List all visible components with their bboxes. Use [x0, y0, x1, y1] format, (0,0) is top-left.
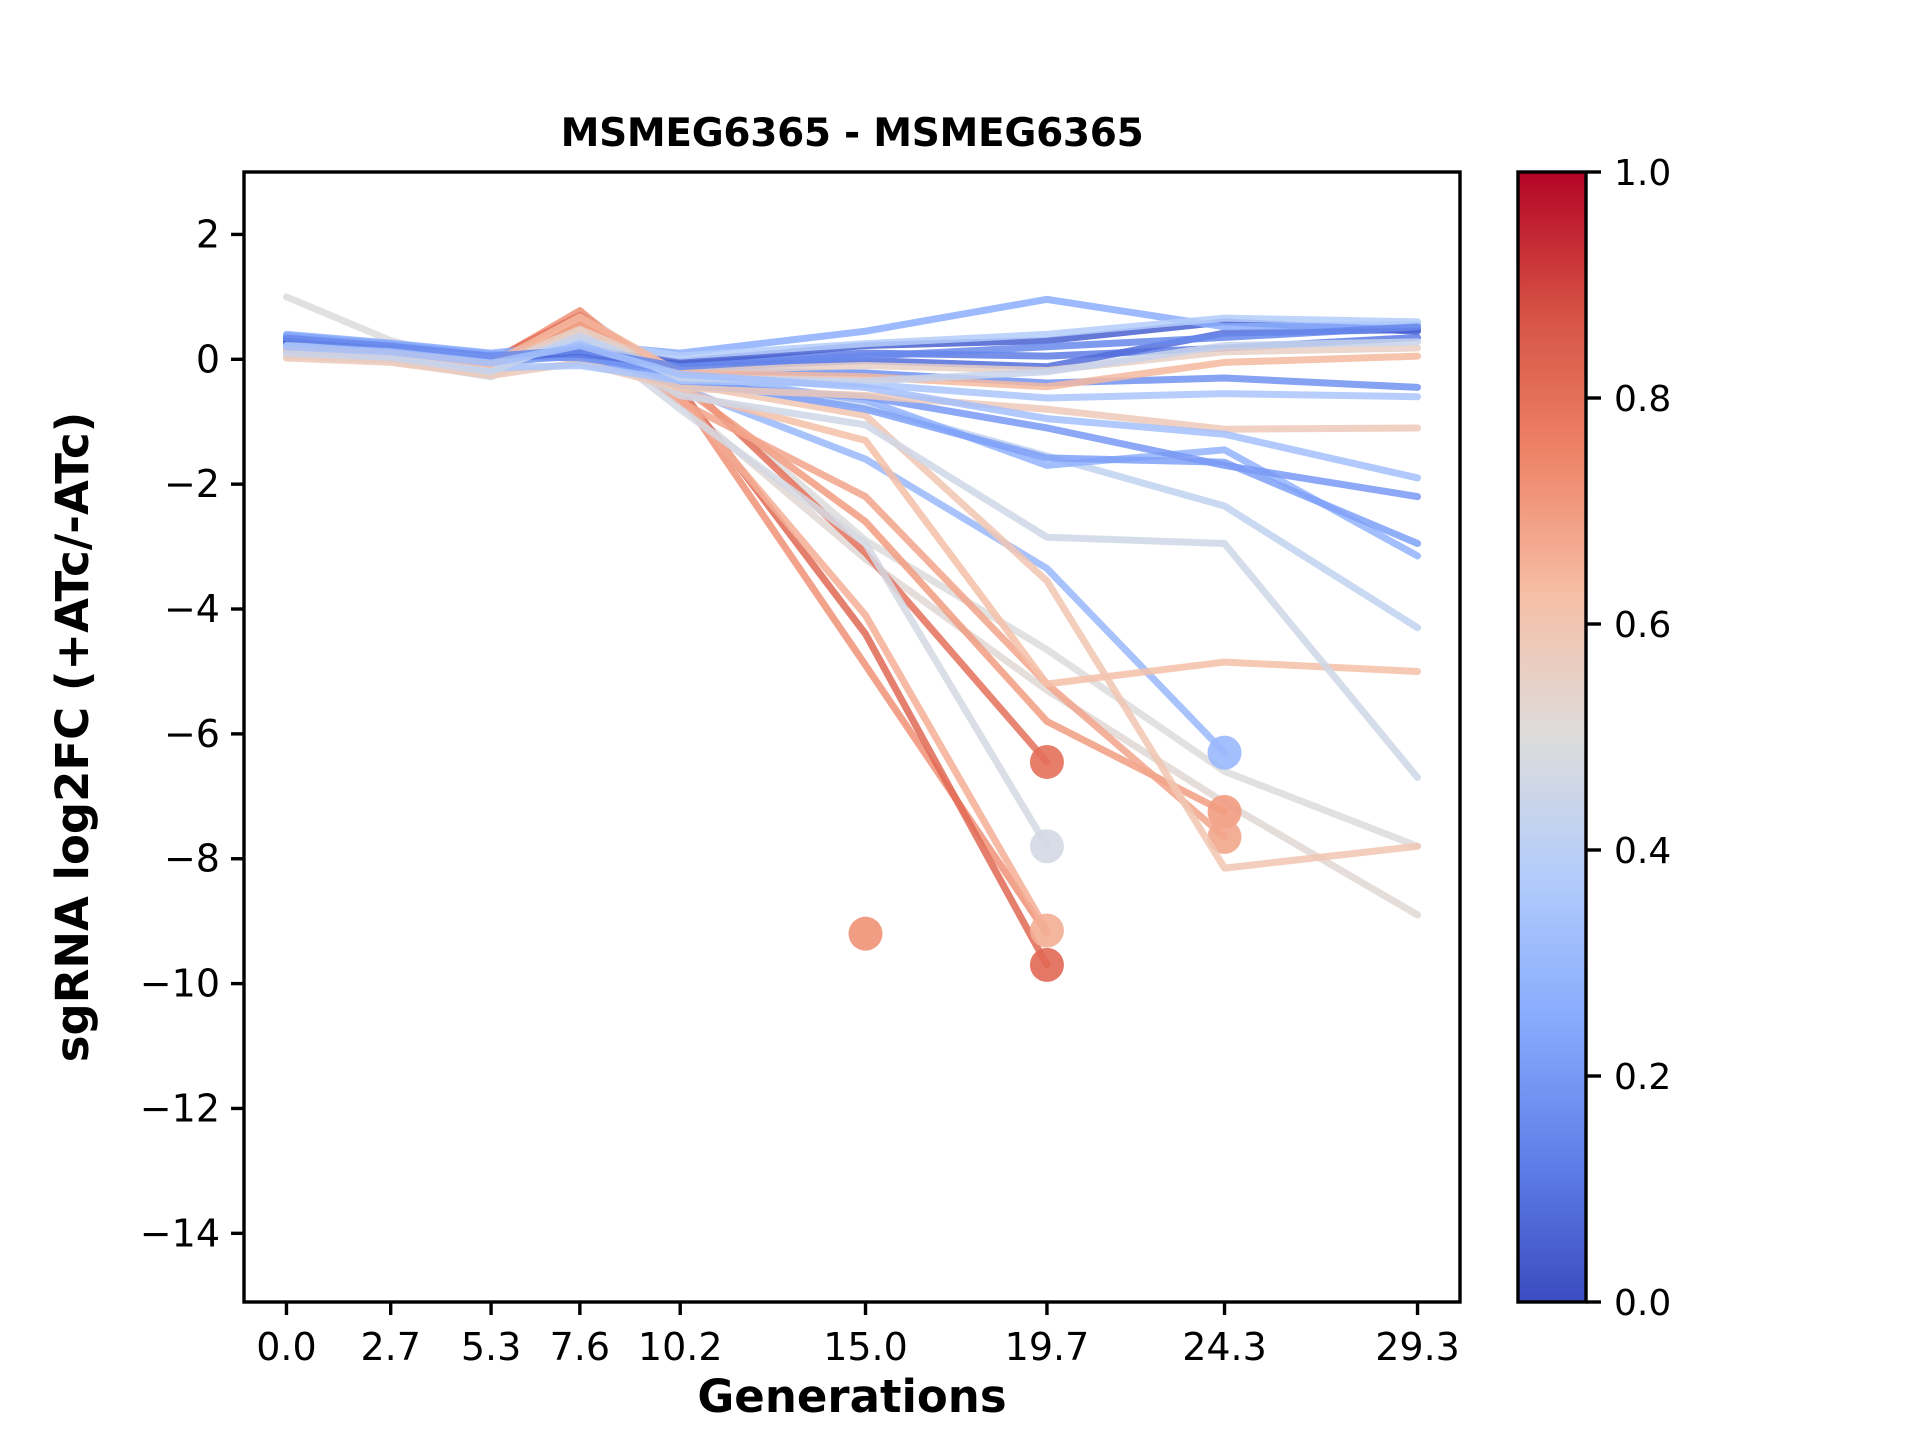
- series-end-marker: [1030, 914, 1064, 948]
- series-end-marker: [849, 917, 883, 951]
- x-tick-label: 0.0: [256, 1325, 316, 1369]
- x-tick-label: 2.7: [360, 1325, 420, 1369]
- series-end-marker: [1208, 736, 1242, 770]
- x-tick-label: 15.0: [823, 1325, 908, 1369]
- y-tick-label: −14: [140, 1211, 220, 1255]
- x-axis: 0.02.75.37.610.215.019.724.329.3: [256, 1302, 1460, 1369]
- y-tick-label: 0: [196, 337, 220, 381]
- x-tick-label: 7.6: [550, 1325, 610, 1369]
- x-tick-label: 10.2: [638, 1325, 723, 1369]
- colorbar-tick-label: 0.2: [1614, 1057, 1671, 1098]
- colorbar-tick-label: 0.4: [1614, 831, 1671, 872]
- y-tick-label: −2: [164, 462, 220, 506]
- x-tick-label: 29.3: [1375, 1325, 1460, 1369]
- y-tick-label: 2: [196, 212, 220, 256]
- chart-title: MSMEG6365 - MSMEG6365: [561, 111, 1144, 156]
- y-axis-label: sgRNA log2FC (+ATc/-ATc): [46, 412, 99, 1063]
- colorbar-tick-label: 0.6: [1614, 605, 1671, 646]
- x-tick-label: 19.7: [1005, 1325, 1090, 1369]
- y-tick-label: −10: [140, 962, 220, 1006]
- series-end-marker: [1030, 829, 1064, 863]
- y-tick-label: −4: [164, 587, 220, 631]
- x-tick-label: 24.3: [1182, 1325, 1267, 1369]
- colorbar-tick-label: 0.8: [1614, 379, 1671, 420]
- colorbar-gradient: [1518, 172, 1586, 1302]
- colorbar-tick-label: 0.0: [1614, 1283, 1671, 1324]
- y-axis: 20−2−4−6−8−10−12−14: [140, 212, 244, 1255]
- series-end-marker: [1030, 745, 1064, 779]
- x-axis-label: Generations: [697, 1370, 1006, 1423]
- colorbar-tick-label: 1.0: [1614, 153, 1671, 194]
- x-tick-label: 5.3: [461, 1325, 521, 1369]
- colorbar-axis: 0.00.20.40.60.81.0: [1586, 153, 1671, 1324]
- y-tick-label: −6: [164, 712, 220, 756]
- series-end-marker: [1030, 948, 1064, 982]
- y-tick-label: −8: [164, 837, 220, 881]
- figure-container: MSMEG6365 - MSMEG6365 0.02.75.37.610.215…: [0, 0, 1920, 1440]
- chart-canvas: MSMEG6365 - MSMEG6365 0.02.75.37.610.215…: [0, 0, 1920, 1440]
- y-tick-label: −12: [140, 1086, 220, 1130]
